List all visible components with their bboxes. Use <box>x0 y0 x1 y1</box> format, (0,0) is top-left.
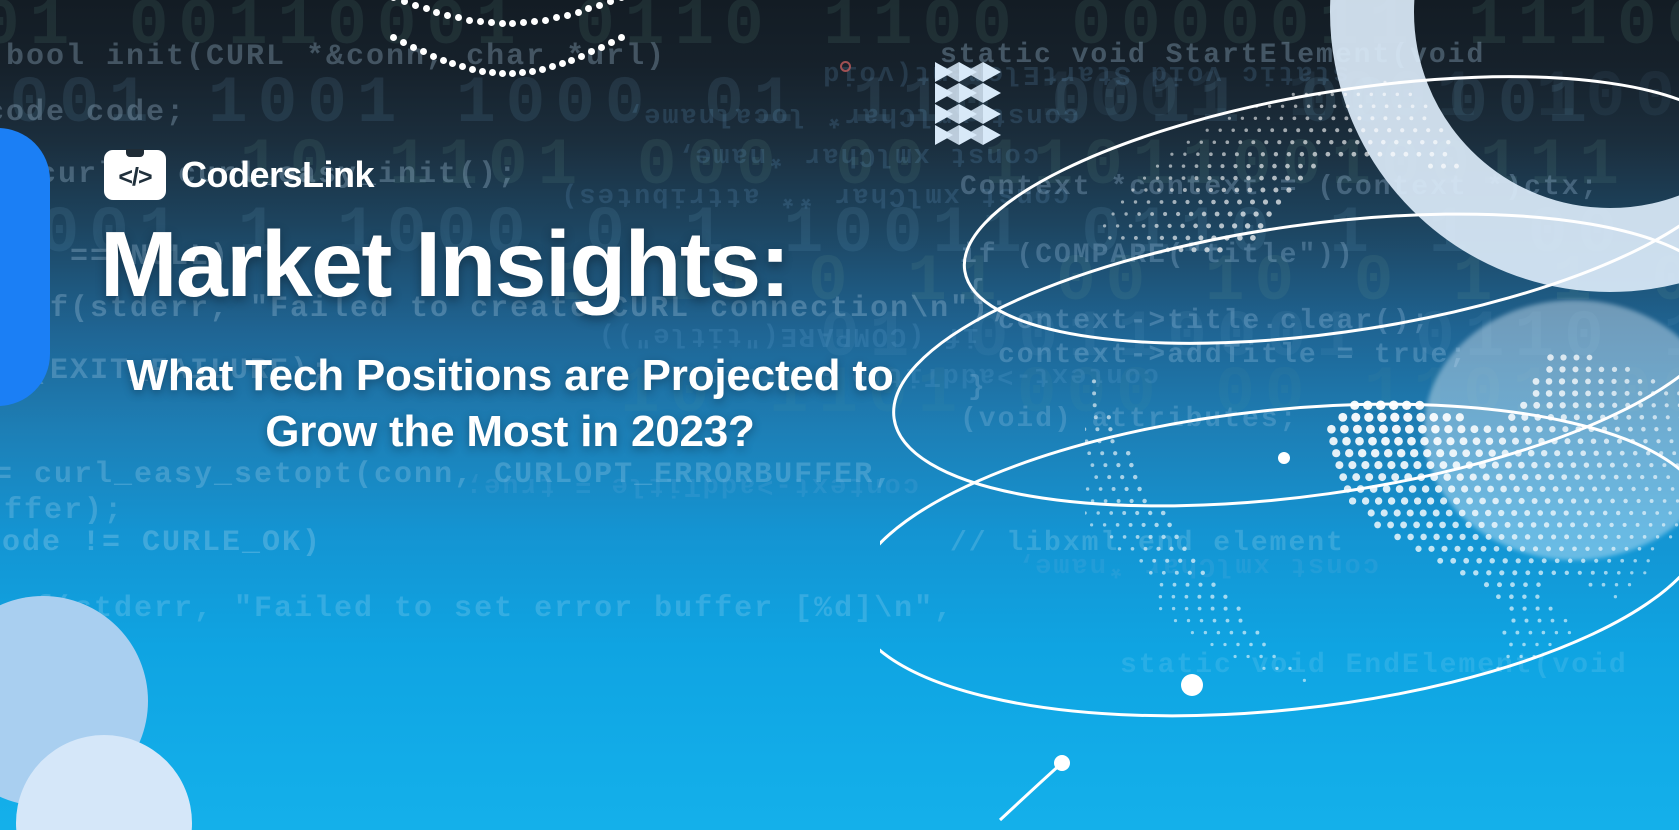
subtitle-line-2: Grow the Most in 2023? <box>30 404 990 460</box>
subtitle-line-1: What Tech Positions are Projected to <box>126 351 893 400</box>
top-right-ring-shadow <box>1424 300 1679 560</box>
page-subtitle: What Tech Positions are Projected to Gro… <box>30 348 990 461</box>
market-insights-banner: 01 00110001 0110 1100 0000011 11100 1001… <box>0 0 1679 830</box>
code-line: context->title.clear(); <box>998 306 1430 337</box>
logo-glyph: </> <box>118 165 151 190</box>
page-title: Market Insights: <box>100 216 1020 314</box>
banner-content: </> CodersLink Market Insights: What Tec… <box>0 0 1020 830</box>
brand-logo[interactable]: </> CodersLink <box>104 150 1020 200</box>
code-line: context->addTitle = true; <box>998 340 1468 371</box>
code-brackets-icon: </> <box>104 150 166 200</box>
top-right-ring <box>1330 0 1679 292</box>
brand-name: CodersLink <box>181 157 374 193</box>
code-line: const xmlChar *name, <box>1015 550 1379 580</box>
code-line: static void EndElement(void <box>1120 650 1628 681</box>
